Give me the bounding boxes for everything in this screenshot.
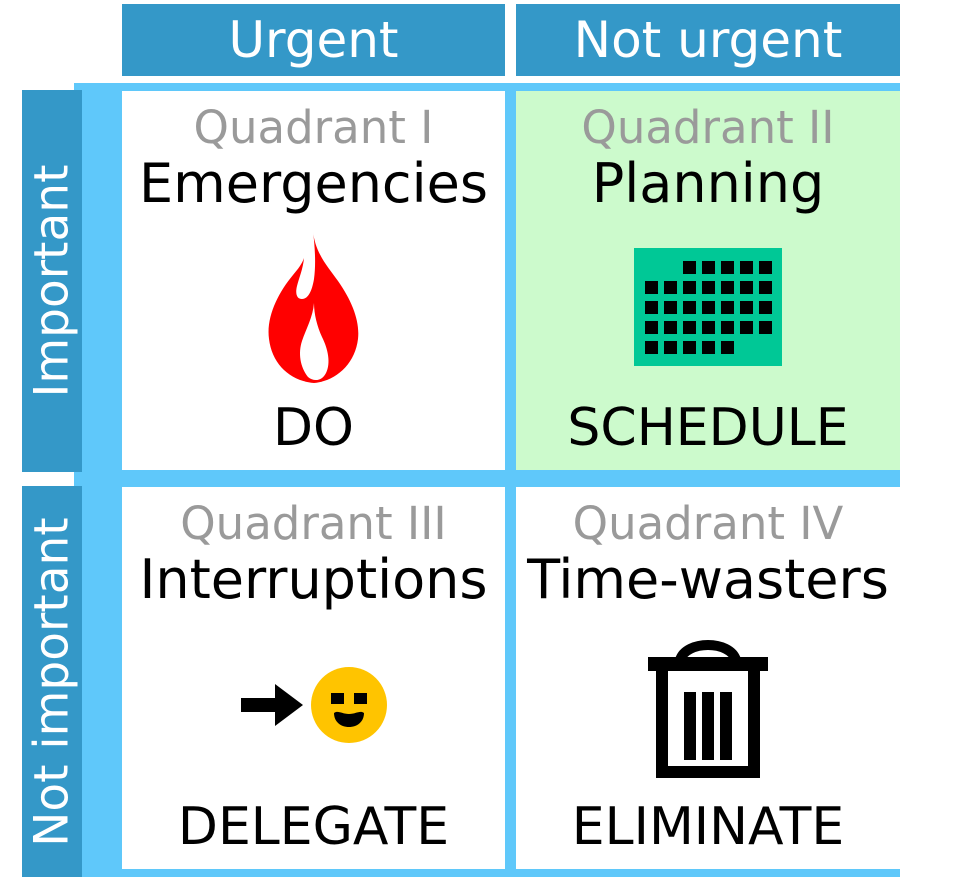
quadrant-4-action: ELIMINATE [572, 801, 844, 853]
calendar-dot [721, 341, 734, 354]
calendar-dot [664, 281, 677, 294]
calendar-dot [721, 301, 734, 314]
quadrant-2-icon-wrap [516, 213, 900, 402]
calendar-dot [645, 301, 658, 314]
quadrant-4-cell[interactable]: Quadrant IV Time-wasters ELIMINATE [516, 487, 900, 869]
quadrant-3-title: Interruptions [139, 552, 487, 609]
calendar-row-1 [642, 257, 775, 277]
calendar-dot [664, 321, 677, 334]
row-label-not-important: Not important [22, 486, 82, 877]
calendar-dot [683, 321, 696, 334]
quadrant-3-action: DELEGATE [178, 801, 449, 853]
calendar-dot [683, 261, 696, 274]
row-label-important: Important [22, 90, 82, 472]
trash-icon [646, 632, 770, 778]
calendar-dot [683, 301, 696, 314]
quadrant-1-cell[interactable]: Quadrant I Emergencies DO [122, 91, 505, 470]
calendar-dot [721, 321, 734, 334]
calendar-dot [740, 321, 753, 334]
column-header-urgent: Urgent [122, 4, 505, 76]
calendar-dot [759, 281, 772, 294]
quadrant-4-title: Time-wasters [527, 552, 889, 609]
column-header-urgent-label: Urgent [228, 15, 398, 65]
smiley-mouth-icon [311, 667, 387, 743]
calendar-dot [664, 341, 677, 354]
calendar-dot [702, 261, 715, 274]
quadrant-3-cell[interactable]: Quadrant III Interruptions DELEGATE [122, 487, 505, 869]
calendar-dot [702, 281, 715, 294]
column-header-not-urgent-label: Not urgent [574, 15, 843, 65]
calendar-dot [759, 261, 772, 274]
calendar-row-3 [642, 297, 775, 317]
quadrant-1-title: Emergencies [139, 156, 488, 213]
calendar-dot [664, 301, 677, 314]
quadrant-1-number: Quadrant I [194, 105, 434, 150]
calendar-row-4 [642, 317, 775, 337]
calendar-dot [740, 301, 753, 314]
calendar-dot [721, 261, 734, 274]
calendar-dot [759, 301, 772, 314]
quadrant-3-icon-wrap [122, 609, 505, 801]
quadrant-3-number: Quadrant III [180, 501, 446, 546]
calendar-dot [721, 281, 734, 294]
quadrant-4-icon-wrap [516, 609, 900, 801]
calendar-dot [645, 321, 658, 334]
delegate-icon [241, 667, 387, 743]
calendar-dot [645, 341, 658, 354]
calendar-dot [683, 281, 696, 294]
fire-icon [262, 231, 366, 383]
quadrant-1-icon-wrap [122, 213, 505, 402]
quadrant-4-number: Quadrant IV [573, 501, 844, 546]
calendar-dot [702, 341, 715, 354]
quadrant-2-action: SCHEDULE [567, 402, 848, 454]
row-label-not-important-text: Not important [29, 517, 76, 846]
smiley-face-icon [311, 667, 387, 743]
calendar-icon [634, 248, 782, 366]
calendar-dot [683, 341, 696, 354]
calendar-dot [702, 321, 715, 334]
quadrant-1-action: DO [273, 402, 354, 454]
arrow-right-icon [241, 679, 303, 731]
calendar-dot [759, 321, 772, 334]
calendar-row-2 [642, 277, 775, 297]
eisenhower-matrix: Urgent Not urgent Important Not importan… [0, 0, 953, 895]
column-header-not-urgent: Not urgent [516, 4, 900, 76]
calendar-row-5 [642, 337, 775, 357]
quadrant-2-title: Planning [592, 156, 825, 213]
calendar-dot [702, 301, 715, 314]
quadrant-2-cell[interactable]: Quadrant II Planning SCHEDULE [516, 91, 900, 470]
calendar-dot [645, 281, 658, 294]
quadrant-2-number: Quadrant II [581, 105, 834, 150]
calendar-dot [740, 261, 753, 274]
calendar-dot [740, 281, 753, 294]
row-label-important-text: Important [29, 164, 76, 397]
